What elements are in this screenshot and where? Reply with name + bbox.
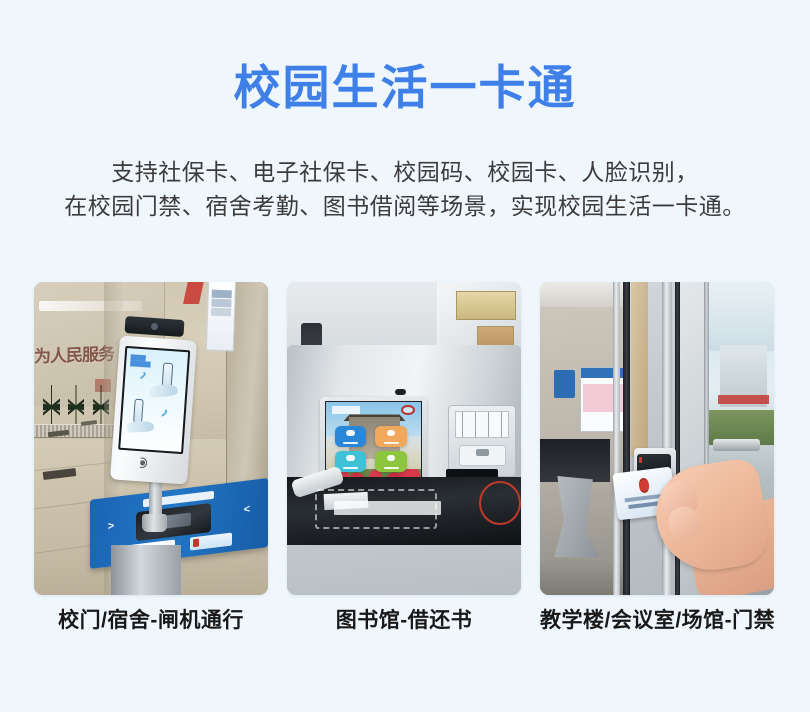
tile-borrow[interactable] — [335, 426, 366, 448]
national-emblem-icon — [638, 478, 650, 493]
scenario-gallery: 为人民服务 > < — [34, 282, 774, 595]
tile-renew[interactable] — [375, 451, 406, 473]
photo-door-access — [540, 282, 774, 595]
page-subtitle: 支持社保卡、电子社保卡、校园码、校园卡、人脸识别， 在校园门禁、宿舍考勤、图书借… — [0, 155, 810, 223]
face-recognition-terminal — [110, 336, 197, 485]
scenario-card-access[interactable] — [540, 282, 774, 595]
instruction-panel — [448, 405, 516, 477]
scenario-card-library[interactable] — [287, 282, 521, 595]
scenario-card-gate[interactable]: 为人民服务 > < — [34, 282, 268, 595]
wall-sign-icon — [554, 370, 575, 398]
page-title: 校园生活一卡通 — [0, 59, 810, 117]
nfc-icon — [140, 456, 159, 470]
kiosk-camera-icon — [395, 389, 407, 395]
arrow-right-icon: < — [244, 503, 250, 516]
photo-gate-turnstile: 为人民服务 > < — [34, 282, 268, 595]
photo-library-kiosk — [287, 282, 521, 595]
subtitle-line-2: 在校园门禁、宿舍考勤、图书借阅等场景，实现校园生活一卡通。 — [0, 189, 810, 223]
promo-page: 校园生活一卡通 支持社保卡、电子社保卡、校园码、校园卡、人脸识别， 在校园门禁、… — [0, 0, 810, 712]
tile-return[interactable] — [375, 426, 406, 448]
caption-row: 校门/宿舍-闸机通行 图书馆-借还书 教学楼/会议室/场馆-门禁 — [34, 606, 774, 640]
card-reader-pad — [459, 445, 506, 466]
caption-library: 图书馆-借还书 — [287, 606, 521, 640]
arrow-left-icon: > — [108, 520, 114, 533]
kiosk-body — [287, 345, 521, 545]
door-handle[interactable] — [713, 439, 760, 452]
card-sticker-right — [190, 532, 233, 551]
caption-gate: 校门/宿舍-闸机通行 — [34, 606, 268, 640]
wall-calligraphy-text: 为人民服务 — [34, 340, 114, 380]
subtitle-line-1: 支持社保卡、电子社保卡、校园码、校园卡、人脸识别， — [0, 155, 810, 189]
caption-access: 教学楼/会议室/场馆-门禁 — [540, 606, 774, 640]
